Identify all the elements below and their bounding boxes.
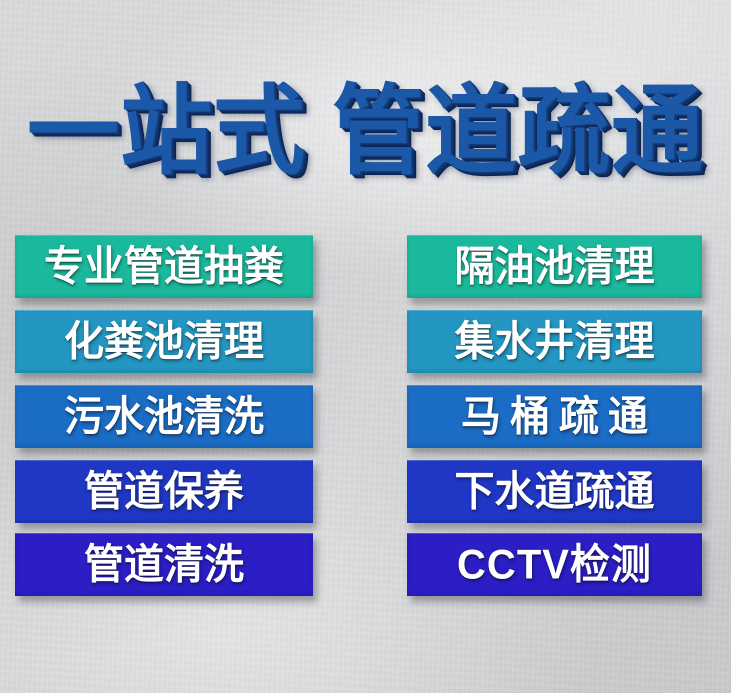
service-bar-right-4[interactable]: 下水道疏通 [407, 460, 702, 523]
service-bar-label: 专业管道抽粪 [44, 244, 284, 290]
poster-canvas: 一站式管道疏通 专业管道抽粪 化粪池清理 污水池清洗 管道保养 管道清洗 隔油池… [0, 0, 731, 693]
service-bar-label: 下水道疏通 [455, 469, 655, 515]
service-bar-left-5[interactable]: 管道清洗 [15, 533, 313, 596]
service-bar-label: 管道清洗 [84, 542, 244, 588]
service-bar-left-1[interactable]: 专业管道抽粪 [15, 235, 313, 298]
service-bar-label: 化粪池清理 [64, 319, 264, 365]
service-bar-right-3[interactable]: 马桶疏通 [407, 385, 702, 448]
service-bar-right-2[interactable]: 集水井清理 [407, 310, 702, 373]
service-bar-label: 管道保养 [84, 469, 244, 515]
service-bar-right-1[interactable]: 隔油池清理 [407, 235, 702, 298]
service-bar-label: CCTV检测 [457, 542, 652, 588]
service-bar-label: 隔油池清理 [455, 244, 655, 290]
page-title-part-two: 管道疏通 [332, 75, 704, 189]
service-bar-left-2[interactable]: 化粪池清理 [15, 310, 313, 373]
page-title: 一站式管道疏通 [0, 78, 731, 186]
service-bar-left-3[interactable]: 污水池清洗 [15, 385, 313, 448]
page-title-part-one: 一站式 [27, 75, 306, 189]
service-bar-label: 集水井清理 [455, 319, 655, 365]
service-bar-label: 马桶疏通 [452, 394, 657, 440]
service-bar-label: 污水池清洗 [64, 394, 264, 440]
service-bar-left-4[interactable]: 管道保养 [15, 460, 313, 523]
service-bar-right-5[interactable]: CCTV检测 [407, 533, 702, 596]
